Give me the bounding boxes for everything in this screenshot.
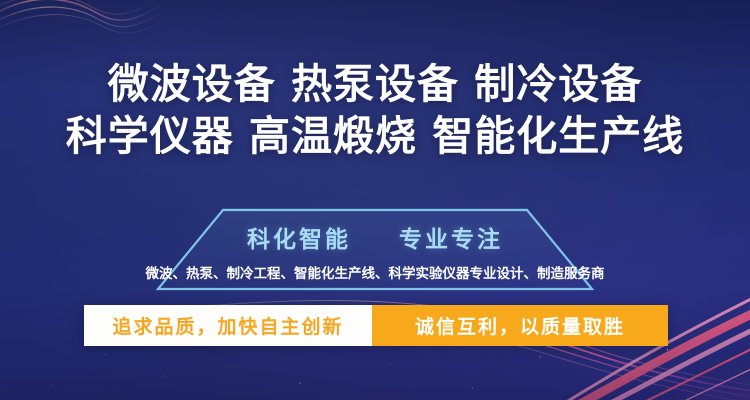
headline-line-2: 科学仪器 高温煅烧 智能化生产线 [0,110,750,162]
slogan-bar-integrity: 诚信互利，以质量取胜 [372,305,668,346]
slogan-primary-right: 专业专注 [399,227,503,253]
headline-line-1: 微波设备 热泵设备 制冷设备 [0,58,750,110]
promo-banner: 微波设备 热泵设备 制冷设备 科学仪器 高温煅烧 智能化生产线 科化智能 专业专… [0,0,750,400]
slogan-bar-quality: 追求品质，加快自主创新 [84,305,372,346]
slogan-trapezoid: 科化智能 专业专注 微波、热泵、制冷工程、智能化生产线、科学实验仪器专业设计、制… [155,208,595,292]
slogan-primary: 科化智能 专业专注 [155,220,595,254]
slogan-bar-group: 追求品质，加快自主创新 诚信互利，以质量取胜 [84,305,668,346]
slogan-primary-left: 科化智能 [247,227,351,253]
page-title: 微波设备 热泵设备 制冷设备 科学仪器 高温煅烧 智能化生产线 [0,58,750,162]
slogan-subtitle: 微波、热泵、制冷工程、智能化生产线、科学实验仪器专业设计、制造服务商 [145,262,605,282]
